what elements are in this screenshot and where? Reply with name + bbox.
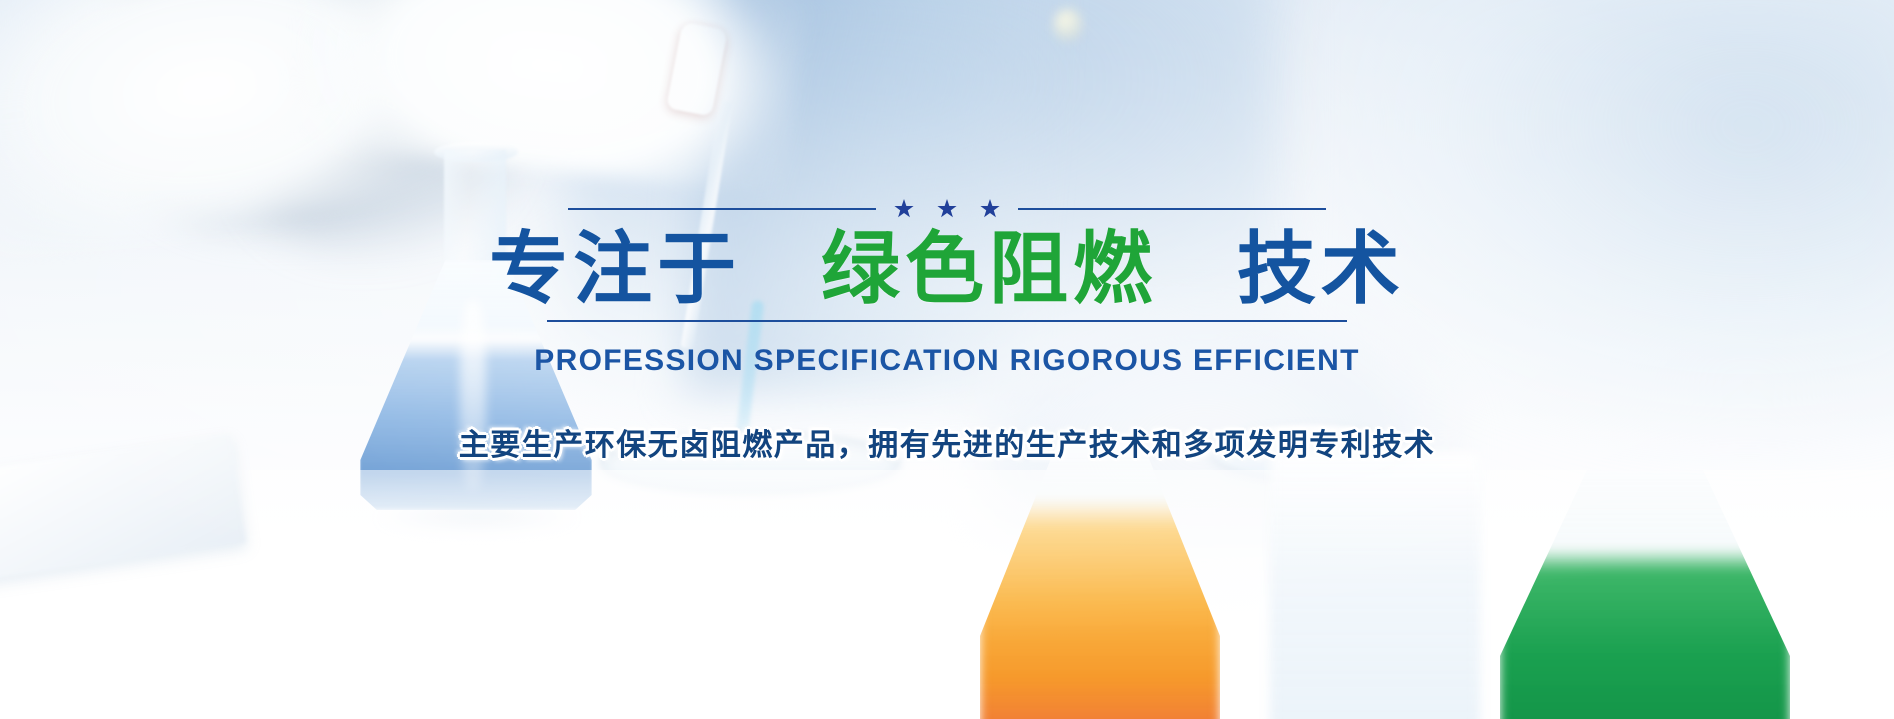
headline-part-focus: 专注于 [489,224,741,313]
headline-part-green-fr: 绿色阻燃 [821,224,1157,313]
star-group [876,199,1018,219]
headline-underline [547,320,1347,322]
rule-line-left [568,208,876,210]
hero-banner: 专注于 绿色阻燃 技术 PROFESSION SPECIFICATION RIG… [0,0,1894,719]
star-icon [980,199,1000,219]
rule-line-right [1018,208,1326,210]
star-icon [894,199,914,219]
banner-subtitle-english: PROFESSION SPECIFICATION RIGOROUS EFFICI… [534,344,1359,378]
headline-part-technology: 技术 [1237,224,1405,313]
banner-content: 专注于 绿色阻燃 技术 PROFESSION SPECIFICATION RIG… [0,0,1894,719]
banner-headline: 专注于 绿色阻燃 技术 [489,226,1405,316]
banner-description-chinese: 主要生产环保无卤阻燃产品，拥有先进的生产技术和多项发明专利技术 [459,420,1436,464]
star-icon [937,199,957,219]
decorative-rule-with-stars [547,200,1347,218]
